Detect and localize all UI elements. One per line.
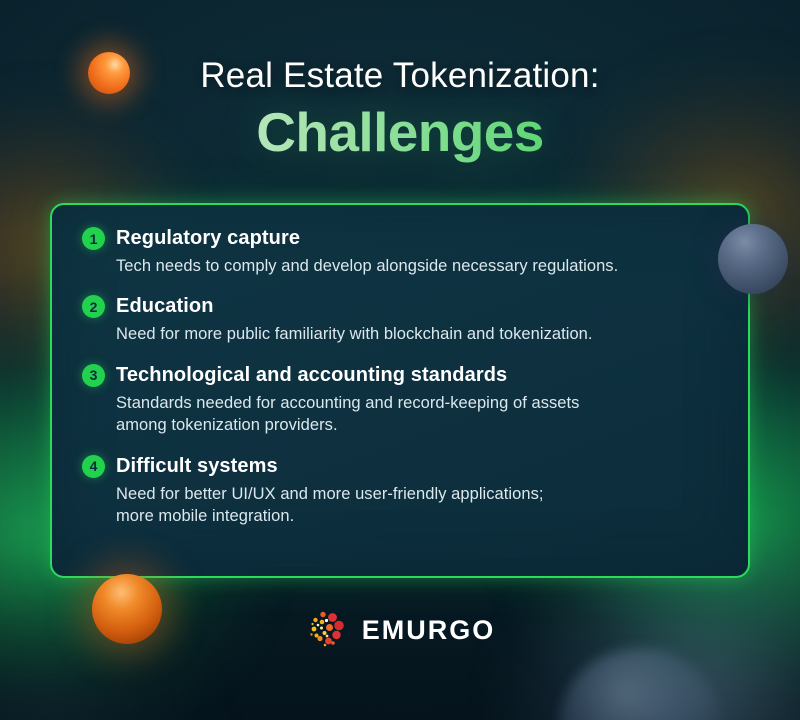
challenges-card: 1 Regulatory capture Tech needs to compl…: [50, 203, 750, 578]
list-item-header: 4 Difficult systems: [82, 455, 718, 478]
list-item-header: 3 Technological and accounting standards: [82, 364, 718, 387]
number-badge-icon: 3: [82, 364, 105, 387]
list-item: 2 Education Need for more public familia…: [82, 295, 718, 345]
orange-sphere-top-left-icon: [88, 52, 130, 94]
list-item-title: Technological and accounting standards: [116, 364, 507, 387]
list-item: 3 Technological and accounting standards…: [82, 364, 718, 437]
title-line-2: Challenges: [0, 103, 800, 162]
number-badge-icon: 4: [82, 455, 105, 478]
slate-sphere-right-icon: [718, 224, 788, 294]
list-item-header: 1 Regulatory capture: [82, 227, 718, 250]
list-item: 1 Regulatory capture Tech needs to compl…: [82, 227, 718, 277]
list-item-description: Need for more public familiarity with bl…: [116, 323, 718, 345]
list-item-description: Need for better UI/UX and more user-frie…: [116, 483, 718, 528]
list-item-description: Standards needed for accounting and reco…: [116, 392, 718, 437]
poster-canvas: Real Estate Tokenization: Challenges 1 R…: [0, 0, 800, 720]
emurgo-dot-cluster-icon: [305, 608, 349, 652]
list-item-description: Tech needs to comply and develop alongsi…: [116, 255, 718, 277]
list-item: 4 Difficult systems Need for better UI/U…: [82, 455, 718, 528]
number-badge-icon: 2: [82, 295, 105, 318]
list-item-header: 2 Education: [82, 295, 718, 318]
brand-wordmark: EMURGO: [362, 615, 496, 646]
list-item-title: Education: [116, 295, 214, 318]
orange-sphere-bottom-left-icon: [92, 574, 162, 644]
list-item-title: Regulatory capture: [116, 227, 300, 250]
list-item-title: Difficult systems: [116, 455, 278, 478]
number-badge-icon: 1: [82, 227, 105, 250]
